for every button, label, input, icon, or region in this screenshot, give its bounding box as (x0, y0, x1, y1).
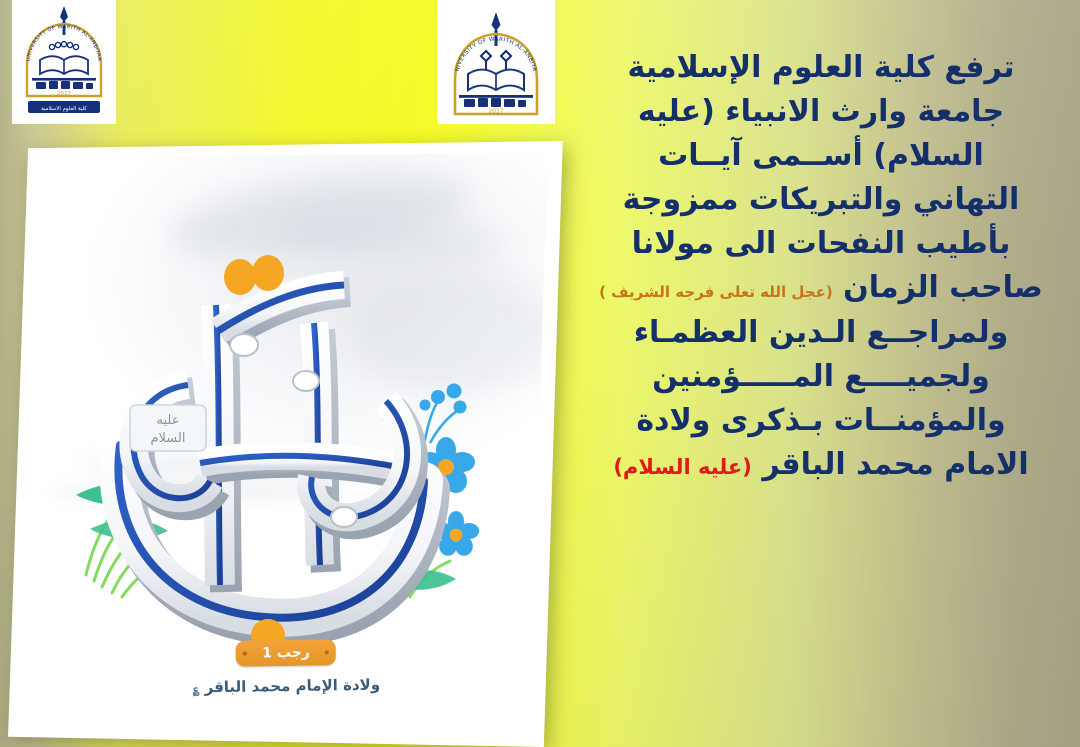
logo-artwork-right: UNIVERSITY OF WARITH AL-ANBIYAA (437, 0, 555, 124)
calligraphy-3d-icon: عليه السلام (68, 245, 488, 665)
message-line-imam-baqir: الامام محمد الباقر (عليه السلام) (586, 443, 1056, 487)
message-line: جامعة وارث الانبياء (عليه (586, 90, 1056, 134)
poster-subcaption: ولادة الإمام محمد الباقر ؏ (20, 672, 552, 698)
message-line: ترفع كلية العلوم الإسلامية (586, 46, 1056, 90)
imam-baqir-text: الامام محمد الباقر (762, 447, 1028, 482)
university-emblem-icon: UNIVERSITY OF WARITH AL-ANBIYAA (437, 0, 555, 124)
honorific-glyph: ؏ (193, 682, 200, 695)
message-line: التهاني والتبريكات ممزوجة (586, 178, 1056, 222)
message-line-sahib-al-zaman: صاحب الزمان (عجل الله تعلى فرجه الشريف ) (586, 266, 1056, 310)
svg-text:2017: 2017 (57, 91, 72, 97)
sahib-al-zaman-honorific: (عجل الله تعلى فرجه الشريف ) (599, 283, 833, 301)
svg-text:2017: 2017 (488, 108, 503, 115)
message-line: ولجميــــع المـــــؤمنين (586, 355, 1056, 399)
message-line: والمؤمنــات بـذكرى ولادة (586, 399, 1056, 443)
greeting-message: ترفع كلية العلوم الإسلامية جامعة وارث ال… (586, 46, 1056, 487)
university-logo-left: UNIVERSITY OF WARITH AL-ANBIYAA (12, 0, 116, 124)
svg-text:السلام: السلام (151, 431, 186, 446)
university-emblem-icon: UNIVERSITY OF WARITH AL-ANBIYAA (12, 0, 116, 124)
date-badge: 1 رجب (236, 639, 336, 667)
poster-card-face: عليه السلام محمد الباقر عليه السلام 1 رج… (20, 153, 552, 737)
poster-subcaption-text: ولادة الإمام محمد الباقر (205, 675, 381, 696)
poster-card: عليه السلام محمد الباقر عليه السلام 1 رج… (8, 141, 565, 747)
message-line: ولمراجــع الـدين العظمـاء (586, 311, 1056, 355)
poster-canvas: UNIVERSITY OF WARITH AL-ANBIYAA (0, 0, 1080, 747)
logo-artwork-left: UNIVERSITY OF WARITH AL-ANBIYAA (12, 0, 116, 124)
message-line: السلام) أســمى آيــات (586, 134, 1056, 178)
imam-baqir-honorific: (عليه السلام) (613, 455, 752, 479)
university-logo-right: UNIVERSITY OF WARITH AL-ANBIYAA (437, 0, 555, 124)
svg-text:UNIVERSITY OF WARITH AL-ANBIYA: UNIVERSITY OF WARITH AL-ANBIYAA (26, 24, 102, 62)
poster-card-border: عليه السلام محمد الباقر عليه السلام 1 رج… (8, 141, 565, 747)
svg-text:عليه: عليه (157, 413, 180, 428)
svg-text:كلية العلوم الاسلامية: كلية العلوم الاسلامية (41, 105, 87, 112)
poster-caption-block: 1 رجب ولادة الإمام محمد الباقر ؏ (20, 635, 552, 698)
message-line: بأطيب النفحات الى مولانا (586, 222, 1056, 266)
sahib-al-zaman-text: صاحب الزمان (843, 270, 1043, 305)
calligraphy-artwork: عليه السلام محمد الباقر عليه السلام (68, 245, 488, 665)
